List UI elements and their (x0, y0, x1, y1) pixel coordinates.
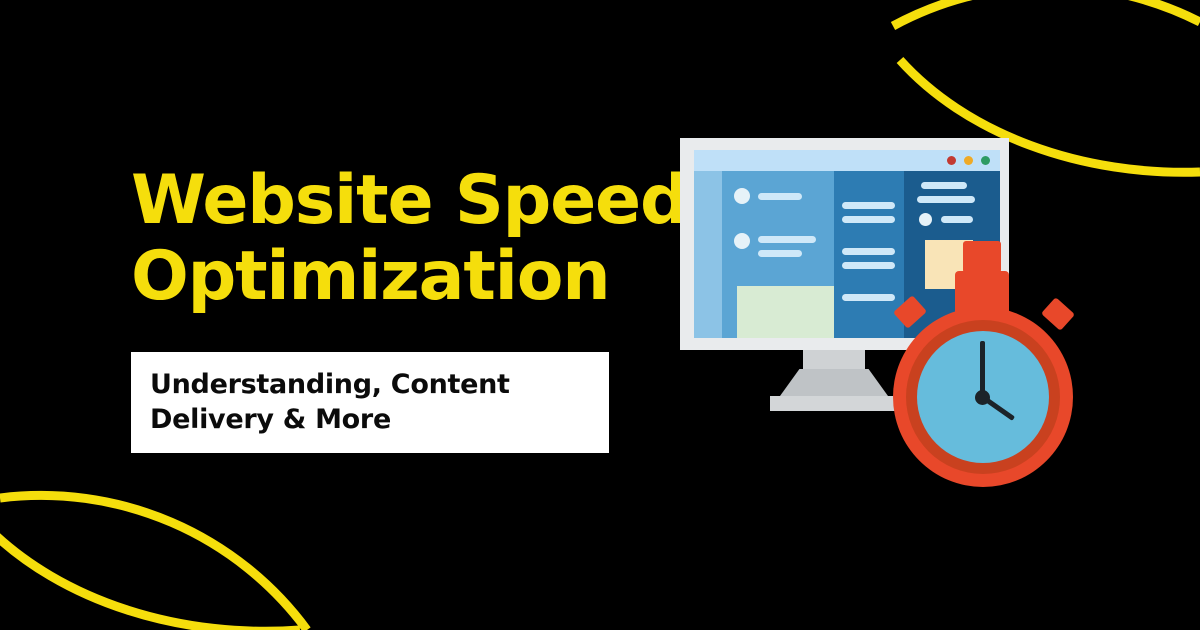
avatar-3-icon (919, 213, 932, 226)
placeholder-line (842, 262, 895, 269)
stopwatch-icon (893, 307, 1073, 487)
placeholder-line (941, 216, 973, 223)
illustration-monitor-stopwatch (660, 120, 1090, 510)
placeholder-line (758, 250, 802, 257)
screen-main-column (722, 171, 834, 338)
subtitle-plate: Understanding, Content Delivery & More (131, 352, 609, 453)
placeholder-line (917, 196, 975, 203)
avatar-1-icon (734, 188, 750, 204)
stopwatch-button-right (1041, 297, 1075, 331)
stopwatch-minute-hand (980, 341, 985, 397)
minimize-dot-icon (964, 156, 973, 165)
placeholder-line (842, 294, 895, 301)
placeholder-line (842, 202, 895, 209)
subtitle-text: Understanding, Content Delivery & More (131, 368, 520, 437)
stopwatch-center-pin (975, 390, 990, 405)
monitor-stand-slope (780, 369, 888, 396)
stopwatch-crown-top (963, 241, 1001, 273)
close-dot-icon (947, 156, 956, 165)
placeholder-line (758, 193, 802, 200)
page-title: Website Speed Optimization (131, 163, 751, 315)
monitor-stand-base (770, 396, 898, 411)
placeholder-line (758, 236, 816, 243)
avatar-2-icon (734, 233, 750, 249)
poster-canvas: Website Speed Optimization Understanding… (0, 0, 1200, 630)
placeholder-line (842, 216, 895, 223)
media-placeholder-card (737, 286, 847, 338)
monitor-stand-neck (803, 350, 865, 369)
maximize-dot-icon (981, 156, 990, 165)
screen-sidebar-rail (694, 171, 722, 338)
placeholder-line (842, 248, 895, 255)
browser-chrome-bar (694, 150, 1000, 171)
placeholder-line (921, 182, 967, 189)
